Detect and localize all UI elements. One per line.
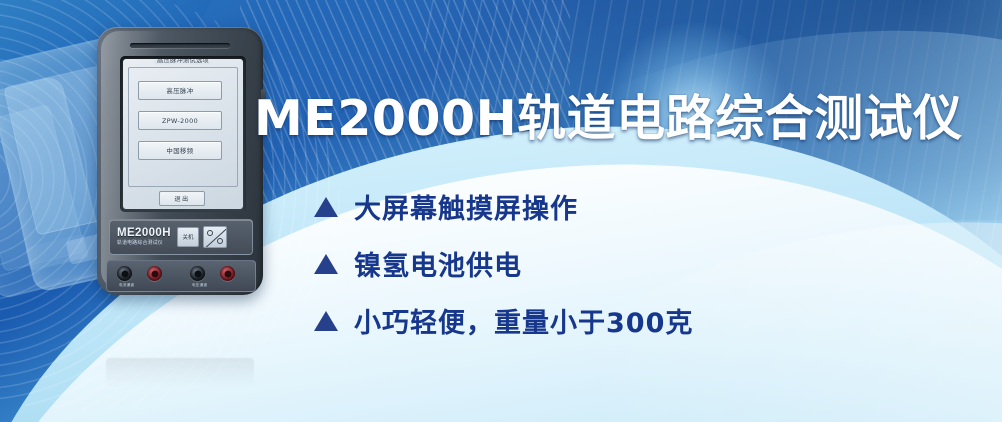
device-brand-plate: ME2000H 轨道电路综合测试仪 关机 (109, 219, 253, 255)
feature-label: 小巧轻便，重量小于300克 (354, 301, 693, 340)
port-label-current: 电流通道 (119, 283, 134, 288)
screen-exit-button[interactable]: 退出 (159, 191, 205, 206)
product-banner: 高压脉冲测试选项 高压脉冲 ZPW-2000 中国移频 退出 ME2000H 轨… (0, 0, 1002, 422)
test-probe-icon (203, 226, 227, 248)
port-jack-voltage-red[interactable] (220, 266, 235, 281)
device-model-subtitle: 轨道电路综合测试仪 (117, 241, 171, 246)
port-label-voltage: 电压通道 (192, 283, 207, 288)
triangle-bullet-icon (314, 254, 338, 274)
device-speaker-slot (130, 43, 230, 48)
screen-menu-button-3[interactable]: 中国移频 (138, 141, 222, 160)
feature-label: 镍氢电池供电 (354, 244, 522, 283)
device-power-key[interactable]: 关机 (177, 227, 199, 247)
feature-label: 大屏幕触摸屏操作 (354, 187, 578, 226)
screen-menu-button-1[interactable]: 高压脉冲 (138, 81, 222, 100)
brand-text-group: ME2000H 轨道电路综合测试仪 (117, 228, 171, 246)
product-device: 高压脉冲测试选项 高压脉冲 ZPW-2000 中国移频 退出 ME2000H 轨… (97, 27, 263, 295)
port-jack-current-black[interactable] (117, 266, 132, 281)
device-model-label: ME2000H (117, 228, 171, 240)
page-title: ME2000H轨道电路综合测试仪 (254, 79, 963, 150)
port-jack-voltage-black[interactable] (190, 266, 205, 281)
screen-panel-title: 高压脉冲测试选项 (154, 59, 212, 65)
device-screen-bezel: 高压脉冲测试选项 高压脉冲 ZPW-2000 中国移频 退出 (120, 56, 246, 212)
device-reflection (97, 296, 263, 388)
triangle-bullet-icon (314, 197, 338, 217)
device-port-panel: 电流通道 电压通道 (106, 260, 256, 292)
device-screen[interactable]: 高压脉冲测试选项 高压脉冲 ZPW-2000 中国移频 退出 (123, 59, 243, 209)
feature-list: 大屏幕触摸屏操作 镍氢电池供电 小巧轻便，重量小于300克 (314, 178, 693, 349)
port-jack-current-red[interactable] (147, 266, 162, 281)
feature-item: 小巧轻便，重量小于300克 (314, 292, 693, 349)
feature-item: 大屏幕触摸屏操作 (314, 178, 693, 235)
triangle-bullet-icon (314, 311, 338, 331)
feature-item: 镍氢电池供电 (314, 235, 693, 292)
screen-menu-button-2[interactable]: ZPW-2000 (138, 111, 222, 130)
